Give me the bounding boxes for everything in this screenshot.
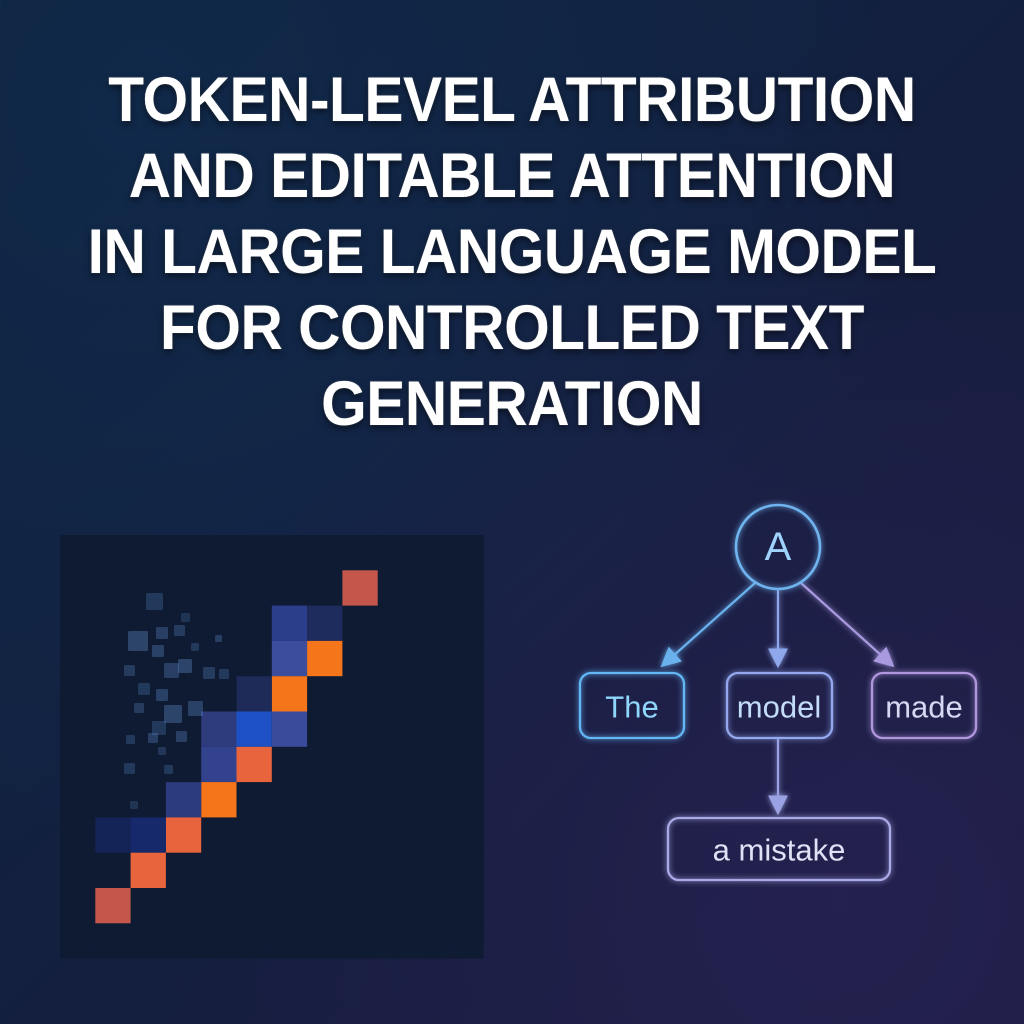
heatmap-cell-active	[272, 712, 307, 747]
heatmap-cell	[201, 817, 236, 852]
heatmap-cell-active	[201, 747, 236, 782]
heatmap-cell	[60, 782, 95, 817]
heatmap-cell	[201, 676, 236, 711]
title-line-3: IN LARGE LANGUAGE MODEL	[36, 214, 988, 290]
heatmap-cell	[237, 817, 272, 852]
heatmap-cell	[413, 570, 448, 605]
heatmap-cell	[237, 782, 272, 817]
heatmap-cell	[95, 712, 130, 747]
heatmap-cell	[448, 817, 483, 852]
heatmap-cell	[342, 782, 377, 817]
heatmap-cell	[201, 570, 236, 605]
heatmap-cell	[201, 888, 236, 923]
heatmap-cell	[131, 535, 166, 570]
tree-node-root[interactable]: A	[736, 505, 820, 589]
poster-canvas: TOKEN-LEVEL ATTRIBUTION AND EDITABLE ATT…	[0, 0, 1024, 1024]
heatmap-cell	[307, 676, 342, 711]
heatmap-cell	[413, 606, 448, 641]
heatmap-cell	[342, 535, 377, 570]
heatmap-cell	[166, 747, 201, 782]
heatmap-cell	[413, 923, 448, 958]
heatmap-cell	[237, 888, 272, 923]
heatmap-cell	[131, 923, 166, 958]
heatmap-cell	[378, 888, 413, 923]
heatmap-cell	[378, 641, 413, 676]
heatmap-cell	[378, 923, 413, 958]
heatmap-cell	[448, 535, 483, 570]
heatmap-cell	[272, 817, 307, 852]
heatmap-cell	[272, 888, 307, 923]
heatmap-cell	[413, 747, 448, 782]
heatmap-cell	[60, 712, 95, 747]
heatmap-speckle	[191, 643, 199, 651]
heatmap-cell	[237, 570, 272, 605]
heatmap-cell	[272, 923, 307, 958]
heatmap-cell	[60, 817, 95, 852]
heatmap-cell-active	[166, 782, 201, 817]
heatmap-cell-active	[307, 606, 342, 641]
heatmap-cell-active	[272, 676, 307, 711]
tree-node-made[interactable]: made	[872, 673, 976, 738]
heatmap-cell	[60, 747, 95, 782]
heatmap-speckle	[124, 665, 135, 676]
heatmap-cell	[413, 535, 448, 570]
heatmap-cell-active	[237, 712, 272, 747]
heatmap-cell	[237, 606, 272, 641]
made-label: made	[885, 690, 963, 725]
heatmap-cell-active	[131, 853, 166, 888]
heatmap-cell	[95, 606, 130, 641]
heatmap-cell	[272, 853, 307, 888]
heatmap-cell	[166, 853, 201, 888]
heatmap-cell	[413, 817, 448, 852]
heatmap-cell	[60, 641, 95, 676]
heatmap-speckle	[181, 613, 190, 622]
heatmap-cell	[413, 641, 448, 676]
heatmap-cell	[448, 606, 483, 641]
heatmap-cell	[60, 888, 95, 923]
heatmap-cell	[201, 535, 236, 570]
heatmap-cell	[378, 535, 413, 570]
heatmap-cell	[307, 535, 342, 570]
heatmap-cell	[237, 923, 272, 958]
heatmap-cell	[307, 923, 342, 958]
heatmap-cell	[307, 747, 342, 782]
heatmap-cell	[448, 641, 483, 676]
heatmap-cell	[60, 676, 95, 711]
heatmap-cell-active	[307, 641, 342, 676]
heatmap-cell	[413, 853, 448, 888]
heatmap-cell	[448, 782, 483, 817]
heatmap-cell	[378, 747, 413, 782]
heatmap-cell-active	[342, 570, 377, 605]
heatmap-cell	[307, 782, 342, 817]
heatmap-cell	[95, 535, 130, 570]
heatmap-cell	[307, 853, 342, 888]
edge-root-to-the	[663, 583, 755, 665]
title-line-1: TOKEN-LEVEL ATTRIBUTION	[36, 62, 988, 138]
heatmap-cell	[342, 817, 377, 852]
a-mistake-label: a mistake	[713, 833, 846, 868]
heatmap-speckle	[124, 763, 135, 774]
heatmap-cell	[237, 641, 272, 676]
heatmap-cell	[378, 817, 413, 852]
heatmap-cell	[272, 747, 307, 782]
heatmap-speckle	[219, 669, 229, 679]
heatmap-cell	[307, 817, 342, 852]
heatmap-cell	[378, 606, 413, 641]
heatmap-cell	[60, 570, 95, 605]
attribution-tree: A The model made a mistake	[555, 495, 1005, 895]
heatmap-cell	[413, 782, 448, 817]
heatmap-cell	[307, 888, 342, 923]
the-label: The	[605, 690, 658, 725]
heatmap-cell	[342, 853, 377, 888]
heatmap-cell-active	[131, 817, 166, 852]
heatmap-cell	[342, 712, 377, 747]
heatmap-speckle	[203, 667, 215, 679]
heatmap-cell	[342, 676, 377, 711]
heatmap-cell	[413, 888, 448, 923]
heatmap-cell	[272, 570, 307, 605]
heatmap-cell-active	[95, 817, 130, 852]
heatmap-cell	[272, 782, 307, 817]
heatmap-cell	[448, 747, 483, 782]
heatmap-cell	[448, 853, 483, 888]
heatmap-cell	[95, 570, 130, 605]
heatmap-cell	[342, 888, 377, 923]
heatmap-speckle	[146, 593, 163, 610]
heatmap-cell	[378, 712, 413, 747]
heatmap-cell-active	[201, 712, 236, 747]
heatmap-cell	[201, 853, 236, 888]
heatmap-cell	[307, 570, 342, 605]
heatmap-cell	[448, 676, 483, 711]
heatmap-cell-active	[272, 641, 307, 676]
heatmap-cell	[166, 570, 201, 605]
heatmap-cell	[166, 923, 201, 958]
tree-node-model[interactable]: model	[727, 673, 832, 738]
heatmap-cell	[448, 712, 483, 747]
heatmap-cell	[342, 747, 377, 782]
page-title: TOKEN-LEVEL ATTRIBUTION AND EDITABLE ATT…	[0, 62, 1024, 442]
title-line-2: AND EDITABLE ATTENTION	[36, 138, 988, 214]
title-line-5: GENERATION	[36, 366, 988, 442]
heatmap-cell	[272, 535, 307, 570]
heatmap-cell	[237, 535, 272, 570]
heatmap-cell	[60, 923, 95, 958]
root-label: A	[765, 525, 792, 569]
heatmap-cell	[95, 853, 130, 888]
heatmap-speckle	[178, 659, 192, 673]
heatmap-cell	[448, 923, 483, 958]
heatmap-cell	[378, 782, 413, 817]
heatmap-cell-active	[237, 676, 272, 711]
heatmap-cell	[60, 606, 95, 641]
heatmap-speckle	[152, 645, 164, 657]
heatmap-cell	[131, 888, 166, 923]
model-label: model	[737, 690, 821, 725]
heatmap-cell	[413, 676, 448, 711]
heatmap-cell	[413, 712, 448, 747]
heatmap-speckle	[158, 747, 166, 755]
heatmap-speckle	[138, 683, 150, 695]
heatmap-cell	[95, 782, 130, 817]
heatmap-cell	[378, 570, 413, 605]
heatmap-cell	[201, 923, 236, 958]
heatmap-cell-active	[95, 888, 130, 923]
heatmap-cell-active	[201, 782, 236, 817]
heatmap-speckle	[148, 733, 158, 743]
heatmap-speckle	[152, 721, 166, 735]
tree-node-a-mistake[interactable]: a mistake	[668, 818, 890, 880]
heatmap-cell	[237, 853, 272, 888]
heatmap-cell	[342, 606, 377, 641]
heatmap-cell	[378, 853, 413, 888]
heatmap-cell	[448, 888, 483, 923]
heatmap-svg	[60, 535, 484, 944]
edge-root-to-made	[801, 583, 892, 665]
heatmap-speckle	[174, 625, 185, 636]
heatmap-cell	[60, 853, 95, 888]
heatmap-cell	[378, 676, 413, 711]
heatmap-cell-active	[166, 817, 201, 852]
heatmap-cell-active	[237, 747, 272, 782]
heatmap-cell	[448, 570, 483, 605]
heatmap-cell	[60, 535, 95, 570]
heatmap-cell	[166, 535, 201, 570]
heatmap-cell	[342, 923, 377, 958]
heatmap-cell	[342, 641, 377, 676]
heatmap-cell	[307, 712, 342, 747]
heatmap-cell	[166, 888, 201, 923]
heatmap-cell-active	[272, 606, 307, 641]
heatmap-cell	[95, 676, 130, 711]
heatmap-speckle	[176, 731, 187, 742]
heatmap-cell	[95, 923, 130, 958]
attention-heatmap	[60, 535, 484, 944]
tree-svg: A The model made a mistake	[555, 495, 1005, 895]
tree-node-the[interactable]: The	[580, 673, 684, 738]
heatmap-cell	[131, 782, 166, 817]
title-line-4: FOR CONTROLLED TEXT	[36, 290, 988, 366]
